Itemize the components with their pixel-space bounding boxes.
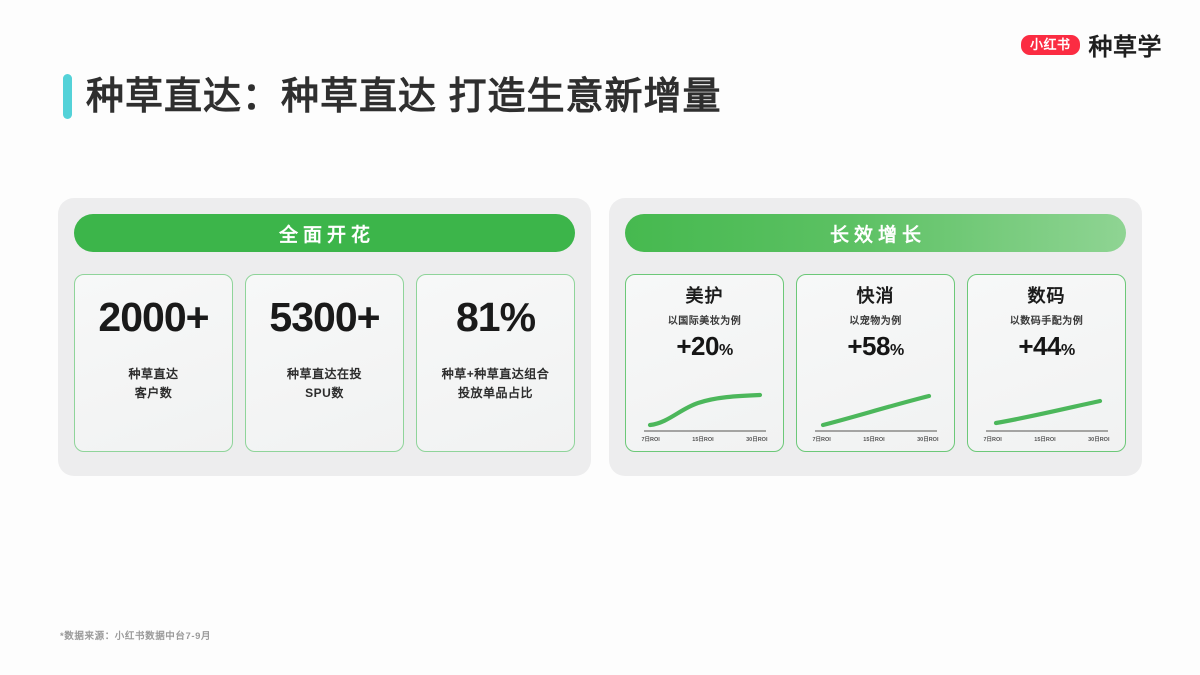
stat-label-line1: 种草直达在投: [287, 365, 362, 384]
axis-tick-30d: 30日ROI: [746, 435, 767, 443]
stat-label-line1: 种草+种草直达组合: [442, 365, 550, 384]
stat-card: 81% 种草+种草直达组合 投放单品占比: [416, 274, 575, 452]
chart-value-number: +20: [676, 331, 719, 361]
stat-label-line1: 种草直达: [128, 365, 178, 384]
chart-value-number: +44: [1018, 331, 1061, 361]
chart-title: 美护: [686, 287, 724, 305]
stat-label: 种草直达 客户数: [128, 365, 178, 402]
panel-full-bloom: 全面开花 2000+ 种草直达 客户数 5300+ 种草直达在投 SPU数 81…: [58, 198, 591, 476]
stat-value: 2000+: [98, 297, 208, 338]
axis-tick-30d: 30日ROI: [917, 435, 938, 443]
chart-value-unit: %: [1061, 342, 1075, 359]
axis-tick-15d: 15日ROI: [863, 435, 884, 443]
panels-container: 全面开花 2000+ 种草直达 客户数 5300+ 种草直达在投 SPU数 81…: [58, 198, 1142, 476]
chart-axis-labels: 7日ROI 15日ROI 30日ROI: [642, 435, 768, 443]
chart-value: +44%: [1018, 333, 1074, 359]
xiaohongshu-badge: 小红书: [1021, 35, 1080, 55]
title-text: 种草直达：种草直达 打造生意新增量: [86, 78, 722, 116]
stat-label: 种草+种草直达组合 投放单品占比: [442, 365, 550, 402]
chart-value-number: +58: [847, 331, 890, 361]
stat-label-line2: 客户数: [128, 384, 178, 403]
stat-value: 5300+: [269, 297, 379, 338]
chart-axis-labels: 7日ROI 15日ROI 30日ROI: [813, 435, 939, 443]
chart-title: 数码: [1028, 287, 1066, 305]
title-accent-bar: [63, 74, 72, 119]
chart-value-unit: %: [890, 342, 904, 359]
axis-tick-7d: 7日ROI: [984, 435, 1002, 443]
stat-value: 81%: [456, 297, 535, 338]
page-title: 种草直达：种草直达 打造生意新增量: [63, 74, 722, 119]
brand-logo: 小红书 种草学: [1021, 27, 1162, 62]
chart-value-unit: %: [719, 342, 733, 359]
chart-subtitle: 以数码手配为例: [1010, 312, 1084, 327]
stat-label-line2: SPU数: [287, 384, 362, 403]
chart-title: 快消: [857, 287, 895, 305]
stat-label: 种草直达在投 SPU数: [287, 365, 362, 402]
chart-subtitle: 以宠物为例: [849, 312, 902, 327]
chart-value: +20%: [676, 333, 732, 359]
chart-card: 快消 以宠物为例 +58% 7日ROI 15日ROI 30日ROI: [796, 274, 955, 452]
data-source-footnote: *数据来源：小红书数据中台7-9月: [60, 628, 211, 642]
chart-axis-labels: 7日ROI 15日ROI 30日ROI: [984, 435, 1110, 443]
stat-card-list: 2000+ 种草直达 客户数 5300+ 种草直达在投 SPU数 81% 种草+…: [74, 274, 575, 452]
chart-card: 美护 以国际美妆为例 +20% 7日ROI 15日ROI 30日ROI: [625, 274, 784, 452]
chart-card: 数码 以数码手配为例 +44% 7日ROI 15日ROI 30日ROI: [967, 274, 1126, 452]
chart-value: +58%: [847, 333, 903, 359]
axis-tick-7d: 7日ROI: [813, 435, 831, 443]
axis-tick-7d: 7日ROI: [642, 435, 660, 443]
axis-tick-30d: 30日ROI: [1088, 435, 1109, 443]
stat-card: 5300+ 种草直达在投 SPU数: [245, 274, 404, 452]
stat-card: 2000+ 种草直达 客户数: [74, 274, 233, 452]
panel-left-header: 全面开花: [74, 214, 575, 252]
chart-subtitle: 以国际美妆为例: [668, 312, 742, 327]
chart-line-graph: [978, 385, 1115, 433]
panel-long-term-growth: 长效增长 美护 以国际美妆为例 +20% 7日ROI 15日ROI 30日R: [609, 198, 1142, 476]
axis-tick-15d: 15日ROI: [692, 435, 713, 443]
axis-tick-15d: 15日ROI: [1034, 435, 1055, 443]
stat-label-line2: 投放单品占比: [442, 384, 550, 403]
chart-line-graph: [807, 385, 944, 433]
panel-right-header: 长效增长: [625, 214, 1126, 252]
chart-line-graph: [636, 385, 773, 433]
chart-card-list: 美护 以国际美妆为例 +20% 7日ROI 15日ROI 30日ROI: [625, 274, 1126, 452]
brand-name: 种草学: [1089, 27, 1163, 62]
